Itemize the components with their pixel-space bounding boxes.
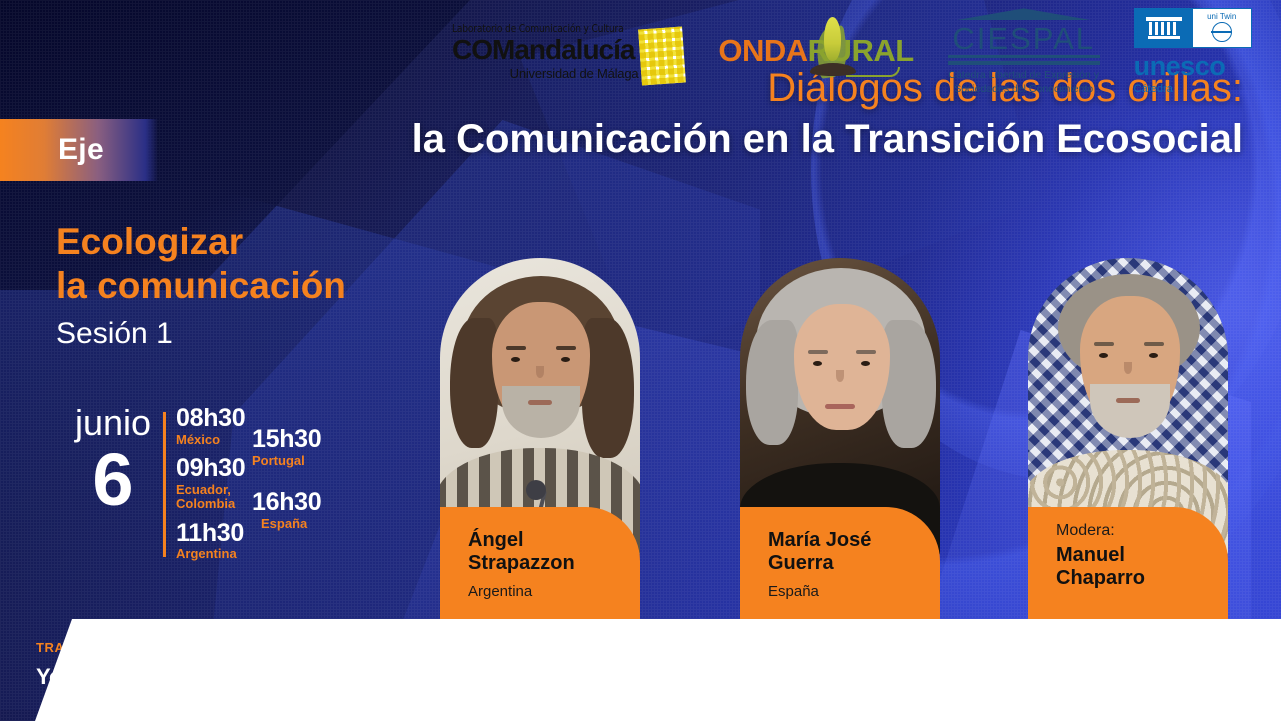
speaker-country: Argentina [468, 583, 640, 600]
speakers-row: Ángel Strapazzon Argentina [440, 258, 1240, 620]
date-day: 6 [58, 445, 168, 515]
unesco-logo: uni Twin unesco Cátedra [1134, 8, 1252, 95]
timezone-place: Ecuador, Colombia [176, 483, 245, 512]
unesco-emblem: uni Twin [1134, 8, 1252, 48]
unitwin-label: uni Twin [1207, 12, 1236, 21]
speaker-card-3: Modera: Manuel Chaparro [1028, 258, 1228, 620]
ciespal-subtitle: Cátedra Libertad de Expresión y Sociedad… [948, 69, 1100, 95]
timezone-time: 16h30 [252, 490, 321, 516]
comandalucia-line-3: Universidad de Málaga [452, 66, 638, 81]
theme-block: Ecologizar la comunicación Sesión 1 [56, 220, 346, 351]
comandalucia-line-2: COMandalucía [452, 36, 638, 64]
unesco-wordmark: unesco [1134, 53, 1252, 80]
timezone-divider [163, 412, 166, 557]
footer-bar [0, 619, 1281, 721]
ciespal-wordmark: CIESPAL [948, 23, 1100, 58]
ciespal-roof-icon [949, 6, 1099, 22]
timezone-place: México [176, 433, 245, 448]
speaker-info-card-3: Modera: Manuel Chaparro [1028, 507, 1228, 620]
event-poster: Eje Diálogos de las dos orillas: la Comu… [0, 0, 1281, 721]
ondarural-logo: ONDARURAL [718, 33, 913, 69]
timezone-place: Argentina [176, 547, 245, 562]
timezone-item: 11h30 Argentina [176, 521, 245, 562]
ciespal-logo: CIESPAL Cátedra Libertad de Expresión y … [948, 6, 1100, 95]
timezone-time: 15h30 [252, 427, 321, 453]
timezone-time: 11h30 [176, 521, 245, 547]
date-month: junio [58, 405, 168, 441]
unesco-temple-icon [1135, 9, 1193, 47]
event-date: junio 6 [58, 405, 168, 515]
theme-line-1: Ecologizar [56, 220, 346, 264]
speaker-country: España [768, 583, 940, 600]
speaker-role: Modera: [1056, 521, 1228, 540]
speaker-card-1: Ángel Strapazzon Argentina [440, 258, 640, 620]
eje-badge: Eje [0, 119, 158, 181]
comandalucia-grid-icon [638, 26, 686, 85]
timezone-item: 09h30 Ecuador, Colombia [176, 456, 245, 512]
timezone-item: 16h30 España [252, 490, 321, 531]
timezone-column-left: 08h30 México 09h30 Ecuador, Colombia 11h… [176, 406, 245, 571]
footer-logos: Laboratorio de Comunicación y Cultura CO… [452, 0, 1281, 102]
timezone-time: 08h30 [176, 406, 245, 432]
ciespal-base-icon [948, 61, 1100, 65]
ondarural-wordmark: ONDARURAL [718, 33, 913, 69]
unesco-subtitle: Cátedra [1134, 83, 1252, 95]
timezone-place: España [261, 517, 321, 532]
eje-badge-label: Eje [58, 133, 104, 167]
timezone-place: Portugal [252, 454, 321, 469]
session-label: Sesión 1 [56, 317, 346, 351]
timezone-item: 15h30 Portugal [252, 427, 321, 468]
theme-line-2: la comunicación [56, 264, 346, 308]
comandalucia-line-1: Laboratorio de Comunicación y Cultura [452, 22, 623, 35]
speaker-info-card-2: María José Guerra España [740, 507, 940, 620]
title-line-2: la Comunicación en la Transición Ecosoci… [412, 116, 1243, 162]
unitwin-icon: uni Twin [1193, 9, 1251, 47]
timezone-item: 08h30 México [176, 406, 245, 447]
speaker-info-card-1: Ángel Strapazzon Argentina [440, 507, 640, 620]
speaker-name: Ángel Strapazzon [468, 529, 640, 575]
corn-cob-icon [824, 17, 841, 61]
timezone-column-right: 15h30 Portugal 16h30 España [252, 427, 321, 540]
speaker-name: María José Guerra [768, 529, 940, 575]
timezone-time: 09h30 [176, 456, 245, 482]
speaker-card-2: María José Guerra España [740, 258, 940, 620]
speaker-name: Manuel Chaparro [1056, 544, 1228, 590]
microphone-cord-icon [846, 67, 900, 77]
ondarural-part-1: ONDA [718, 33, 807, 68]
comandalucia-logo: Laboratorio de Comunicación y Cultura CO… [452, 22, 684, 81]
